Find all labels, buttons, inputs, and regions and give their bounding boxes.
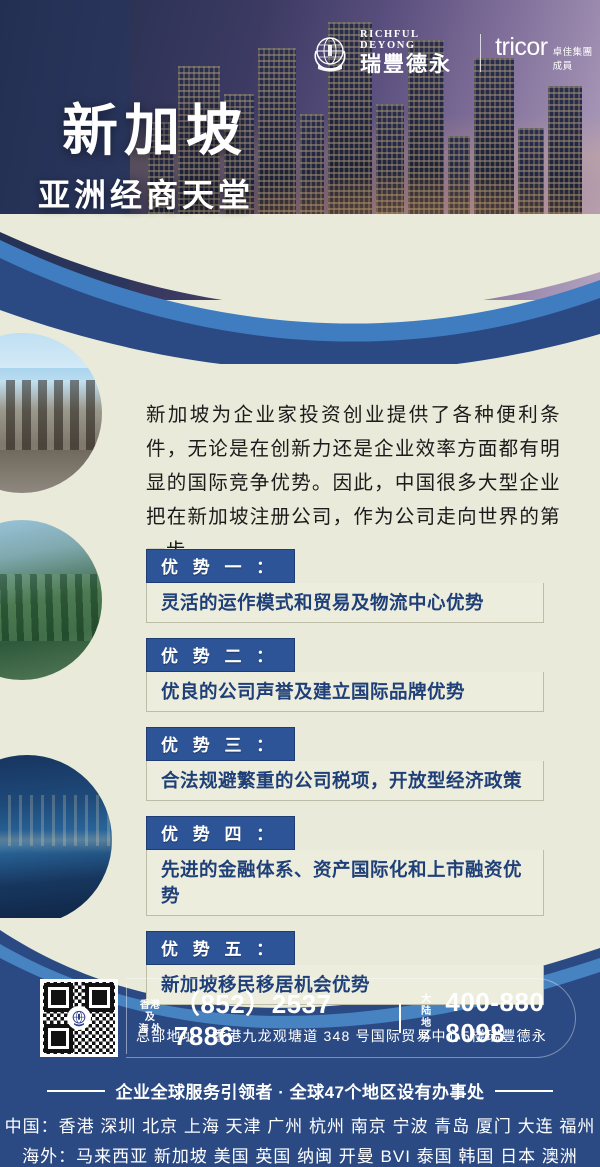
qr-center-emblem-icon [67, 1006, 91, 1030]
poster-root: 新加坡 亚洲经商天堂 RICHFUL DEYONG 瑞豐德永 tricor 卓佳… [0, 0, 600, 1167]
advantage-item: 优 势 四 ： 先进的金融体系、资产国际化和上市融资优势 [146, 816, 544, 916]
photo-circle-shophouse [0, 333, 102, 493]
logo-english-name: RICHFUL DEYONG [360, 30, 466, 51]
partner-logo-name: tricor [495, 33, 548, 62]
tagline-text: 企业全球服务引领者 · 全球47个地区设有办事处 [115, 1078, 484, 1103]
china-region-label: 中国： [5, 1117, 59, 1136]
advantage-item: 优 势 三 ： 合法规避繁重的公司税项，开放型经济政策 [146, 727, 544, 801]
globe-laurel-emblem-icon [308, 31, 352, 75]
advantage-list: 优 势 一 ： 灵活的运作模式和贸易及物流中心优势 优 势 二 ： 优良的公司声… [146, 549, 544, 1020]
china-region-row: 中国：香港 深圳 北京 上海 天津 广州 杭州 南京 宁波 青岛 厦门 大连 福… [0, 1112, 600, 1137]
advantage-text: 优良的公司声誉及建立国际品牌优势 [146, 672, 544, 712]
contact-divider [126, 984, 127, 1054]
china-region-cities: 香港 深圳 北京 上海 天津 广州 杭州 南京 宁波 青岛 厦门 大连 福州 [59, 1117, 596, 1136]
photo-circle-marina-bay [0, 755, 112, 925]
advantage-item: 优 势 二 ： 优良的公司声誉及建立国际品牌优势 [146, 638, 544, 712]
overseas-region-label: 海外： [22, 1147, 76, 1166]
advantage-label: 优 势 五 ： [146, 931, 295, 965]
tagline-rule-left [47, 1090, 105, 1092]
advantage-item: 优 势 一 ： 灵活的运作模式和贸易及物流中心优势 [146, 549, 544, 623]
advantage-label: 优 势 二 ： [146, 638, 295, 672]
partner-logo-subtitle: 卓佳集團成員 [553, 44, 600, 72]
brand-logo: RICHFUL DEYONG 瑞豐德永 tricor 卓佳集團成員 [308, 30, 600, 75]
head-office-address: 总部地址：香港九龙观塘道 348 号国际贸易中心5楼瑞豐德永 [136, 1026, 547, 1046]
advantage-label: 优 势 一 ： [146, 549, 295, 583]
tagline-rule-right [495, 1090, 553, 1092]
contact-band: 香港及 海 外 （852）2537 7886 大陆 地区 400-880 809… [0, 978, 600, 1060]
logo-divider [480, 34, 481, 72]
intro-paragraph: 新加坡为企业家投资创业提供了各种便利条件，无论是在创新力还是企业效率方面都有明显… [146, 398, 560, 568]
photo-circle-greenery [0, 520, 102, 680]
advantage-text: 灵活的运作模式和贸易及物流中心优势 [146, 583, 544, 623]
page-title: 新加坡 [62, 86, 248, 167]
qr-code-icon[interactable] [40, 979, 118, 1057]
page-subtitle: 亚洲经商天堂 [38, 170, 254, 216]
advantage-label: 优 势 三 ： [146, 727, 295, 761]
footer-tagline: 企业全球服务引领者 · 全球47个地区设有办事处 [0, 1078, 600, 1103]
advantage-text: 合法规避繁重的公司税项，开放型经济政策 [146, 761, 544, 801]
footer-regions: 企业全球服务引领者 · 全球47个地区设有办事处 中国：香港 深圳 北京 上海 … [0, 1078, 600, 1167]
overseas-region-cities: 马来西亚 新加坡 美国 英国 纳闽 开曼 BVI 泰国 韩国 日本 澳洲 [76, 1147, 578, 1166]
logo-chinese-name: 瑞豐德永 [360, 54, 466, 75]
overseas-region-row: 海外：马来西亚 新加坡 美国 英国 纳闽 开曼 BVI 泰国 韩国 日本 澳洲 [0, 1142, 600, 1167]
advantage-text: 先进的金融体系、资产国际化和上市融资优势 [146, 850, 544, 916]
advantage-label: 优 势 四 ： [146, 816, 295, 850]
